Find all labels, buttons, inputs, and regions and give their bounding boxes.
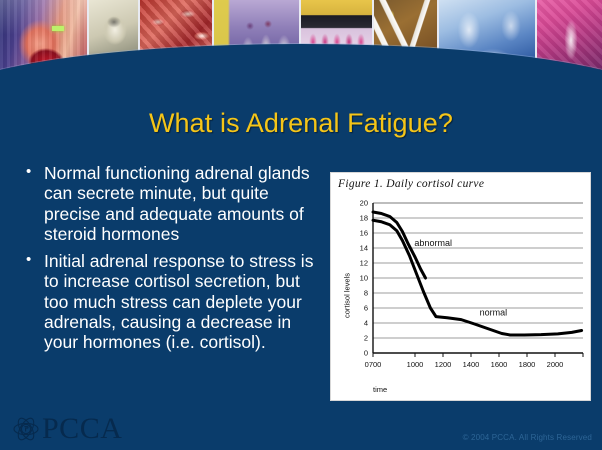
pcca-wordmark: PCCA <box>42 414 122 444</box>
pcca-logo: PCCA <box>13 414 122 444</box>
list-item-text: Initial adrenal response to stress is to… <box>44 251 326 352</box>
cortisol-chart: Figure 1. Daily cortisol curve cortisol … <box>331 173 590 400</box>
svg-text:0700: 0700 <box>365 360 382 369</box>
svg-text:normal: normal <box>480 308 508 318</box>
bullet-marker-icon: • <box>26 251 44 352</box>
photo-banner <box>0 0 602 92</box>
svg-text:2: 2 <box>364 334 368 343</box>
svg-text:abnormal: abnormal <box>414 238 452 248</box>
bullet-marker-icon: • <box>26 163 44 244</box>
svg-text:16: 16 <box>360 229 368 238</box>
svg-text:2000: 2000 <box>547 360 564 369</box>
chart-title: Figure 1. Daily cortisol curve <box>338 178 484 190</box>
atom-orbital-icon <box>13 416 39 442</box>
svg-text:10: 10 <box>360 274 368 283</box>
svg-text:12: 12 <box>360 259 368 268</box>
svg-text:1200: 1200 <box>435 360 452 369</box>
list-item-text: Normal functioning adrenal glands can se… <box>44 163 326 244</box>
chart-svg: 0246810121416182007001000120014001600180… <box>331 195 590 400</box>
svg-text:1800: 1800 <box>519 360 536 369</box>
chart-y-axis-label: cortisol levels <box>343 260 352 332</box>
copyright-text: © 2004 PCCA. All Rights Reserved <box>463 433 592 442</box>
list-item: • Initial adrenal response to stress is … <box>26 251 326 352</box>
svg-text:1000: 1000 <box>407 360 424 369</box>
svg-text:4: 4 <box>364 319 368 328</box>
slide: What is Adrenal Fatigue? • Normal functi… <box>0 0 602 450</box>
svg-text:8: 8 <box>364 289 368 298</box>
bullet-list: • Normal functioning adrenal glands can … <box>26 163 326 360</box>
slide-footer: PCCA © 2004 PCCA. All Rights Reserved <box>0 404 602 450</box>
svg-text:1600: 1600 <box>491 360 508 369</box>
svg-text:6: 6 <box>364 304 368 313</box>
svg-text:14: 14 <box>360 244 368 253</box>
svg-text:20: 20 <box>360 199 368 208</box>
svg-text:1400: 1400 <box>463 360 480 369</box>
chart-plot-area: cortisol levels time 0246810121416182007… <box>331 195 590 400</box>
svg-text:0: 0 <box>364 349 368 358</box>
list-item: • Normal functioning adrenal glands can … <box>26 163 326 244</box>
page-title: What is Adrenal Fatigue? <box>0 108 602 139</box>
chart-x-axis-label: time <box>373 385 387 394</box>
svg-text:18: 18 <box>360 214 368 223</box>
